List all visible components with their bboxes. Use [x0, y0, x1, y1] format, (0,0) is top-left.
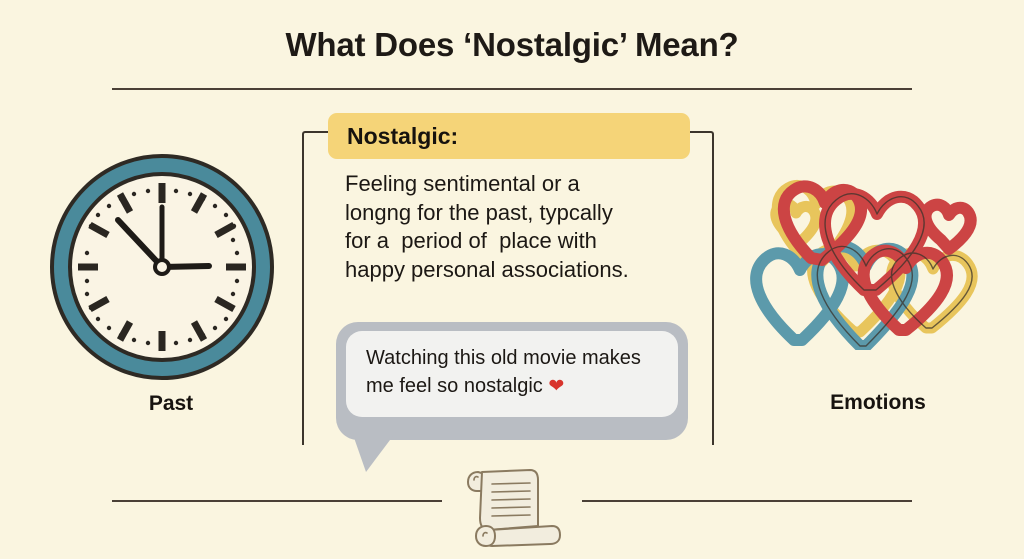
right-panel-label: Emotions [768, 391, 988, 415]
definition-header: Nostalgic: [328, 113, 690, 159]
definition-line: longng for the past, typcally [345, 199, 695, 228]
example-line-with-emoji: me feel so nostalgic ❤ [366, 372, 678, 401]
example-bubble-tail [352, 432, 396, 472]
definition-line: happy personal associations. [345, 256, 695, 285]
page-title: What Does ‘Nostalgic’ Mean? [0, 26, 1024, 64]
definition-body: Feeling sentimental or a longng for the … [345, 170, 695, 284]
clock-icon [48, 152, 276, 387]
definition-line: Feeling sentimental or a [345, 170, 695, 199]
scroll-icon [452, 458, 572, 555]
example-line: Watching this old movie makes [366, 344, 678, 372]
definition-term: Nostalgic: [347, 123, 458, 150]
red-heart-emoji: ❤ [548, 376, 564, 397]
example-text: Watching this old movie makes me feel so… [366, 344, 678, 401]
connector-bracket-left [302, 131, 332, 445]
definition-line: for a period of place with [345, 227, 695, 256]
interlocking-hearts-icon [736, 150, 986, 355]
divider-bottom-right [582, 500, 912, 502]
divider-bottom-left [112, 500, 442, 502]
divider-top [112, 88, 912, 90]
left-panel-label: Past [66, 392, 276, 416]
example-line: me feel so nostalgic [366, 375, 548, 397]
example-bubble-inner: Watching this old movie makes me feel so… [346, 331, 678, 417]
infographic-page: What Does ‘Nostalgic’ Mean? [0, 0, 1024, 559]
